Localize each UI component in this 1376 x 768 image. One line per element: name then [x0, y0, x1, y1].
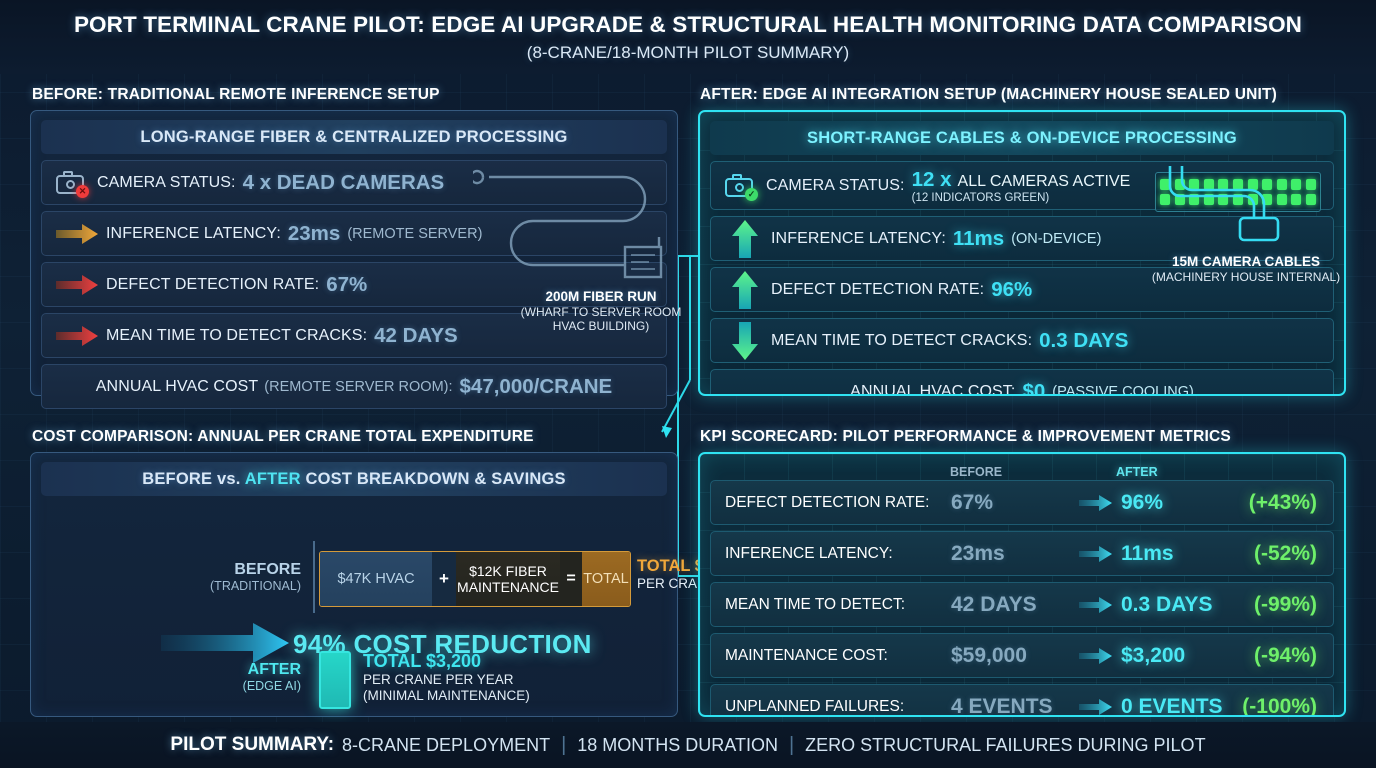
- kpi-row-after: $3,200: [1121, 644, 1185, 668]
- before-latency-label: INFERENCE LATENCY:: [106, 225, 281, 243]
- kpi-row-after: 0 EVENTS: [1121, 695, 1223, 718]
- cost-segment-total: TOTAL: [582, 552, 630, 606]
- status-led-icon: [1160, 179, 1170, 190]
- footer-value-1: 8-CRANE DEPLOYMENT: [342, 735, 550, 756]
- arrow-right-cyan-icon: [1079, 544, 1113, 564]
- after-panel-band: SHORT-RANGE CABLES & ON-DEVICE PROCESSIN…: [710, 121, 1334, 155]
- check-badge-icon: ✓: [745, 188, 758, 201]
- page-title: PORT TERMINAL CRANE PILOT: EDGE AI UPGRA…: [74, 12, 1302, 38]
- page-header: PORT TERMINAL CRANE PILOT: EDGE AI UPGRA…: [0, 0, 1376, 74]
- after-camera-label: CAMERA STATUS:: [766, 177, 905, 195]
- status-led-icon: [1248, 179, 1258, 190]
- kpi-col-header-after: AFTER: [1116, 465, 1158, 479]
- before-mttd-value: 42 DAYS: [374, 324, 458, 348]
- cost-before-label-sub: (TRADITIONAL): [101, 579, 301, 593]
- fiber-caption-line1: 200M FIBER RUN: [501, 289, 701, 305]
- cost-panel: BEFORE vs. AFTER COST BREAKDOWN & SAVING…: [30, 452, 678, 717]
- after-band-label: SHORT-RANGE CABLES & ON-DEVICE PROCESSIN…: [807, 129, 1237, 148]
- before-row-camera-status: ✕ CAMERA STATUS: 4 x DEAD CAMERAS: [41, 160, 667, 205]
- status-led-icon: [1160, 194, 1170, 205]
- after-hvac-label: ANNUAL HVAC COST:: [850, 383, 1015, 397]
- before-row-hvac-cost: ANNUAL HVAC COST (REMOTE SERVER ROOM): $…: [41, 364, 667, 409]
- page-subtitle: (8-CRANE/18-MONTH PILOT SUMMARY): [527, 43, 849, 63]
- footer-separator: |: [561, 734, 566, 757]
- after-camera-value-tail: ALL CAMERAS ACTIVE: [958, 173, 1131, 191]
- before-defect-label: DEFECT DETECTION RATE:: [106, 276, 319, 294]
- before-camera-value: 4 x DEAD CAMERAS: [243, 171, 445, 195]
- after-row-hvac-cost: ANNUAL HVAC COST: $0 (PASSIVE COOLING): [710, 369, 1334, 396]
- page-footer: PILOT SUMMARY: 8-CRANE DEPLOYMENT | 18 M…: [0, 722, 1376, 768]
- kpi-row-before: 42 DAYS: [951, 593, 1037, 617]
- status-led-icon: [1291, 194, 1301, 205]
- kpi-row-label: INFERENCE LATENCY:: [725, 545, 893, 563]
- cost-segment-hvac: $47K HVAC: [320, 552, 432, 606]
- arrow-right-red-icon: [54, 272, 100, 298]
- footer-separator: |: [789, 734, 794, 757]
- status-led-icon: [1291, 179, 1301, 190]
- status-led-icon: [1218, 194, 1228, 205]
- kpi-row-after: 96%: [1121, 491, 1163, 515]
- kpi-row-delta: (-99%): [1254, 593, 1317, 617]
- arrow-down-green-icon: [729, 319, 761, 363]
- before-hvac-label: ANNUAL HVAC COST: [96, 378, 259, 396]
- cost-before-label-main: BEFORE: [101, 561, 301, 579]
- cost-after-label-main: AFTER: [91, 661, 301, 679]
- cost-segment-equals: =: [560, 552, 582, 606]
- status-led-icon: [1233, 194, 1243, 205]
- after-row-mean-time-detect: MEAN TIME TO DETECT CRACKS: 0.3 DAYS: [710, 318, 1334, 363]
- before-defect-value: 67%: [326, 273, 367, 297]
- camera-dead-icon: ✕: [54, 170, 88, 196]
- kpi-row-delta: (-94%): [1254, 644, 1317, 668]
- footer-key: PILOT SUMMARY:: [170, 734, 334, 756]
- before-row-inference-latency: INFERENCE LATENCY: 23ms (REMOTE SERVER): [41, 211, 667, 256]
- cost-fiber-line2: MAINTENANCE: [457, 579, 559, 595]
- arrow-right-red-icon: [54, 323, 100, 349]
- cost-axis-line: [313, 541, 315, 613]
- kpi-row-label: MEAN TIME TO DETECT:: [725, 596, 905, 614]
- after-camera-value: 12 x: [912, 168, 952, 192]
- arrow-right-cyan-icon: [1079, 595, 1113, 615]
- kpi-row-delta: (+43%): [1249, 491, 1317, 515]
- arrow-right-cyan-icon: [1079, 697, 1113, 717]
- kpi-section-title: KPI SCORECARD: PILOT PERFORMANCE & IMPRO…: [700, 428, 1231, 446]
- cost-after-total-sub: PER CRANE PER YEAR: [363, 672, 643, 688]
- before-panel-band: LONG-RANGE FIBER & CENTRALIZED PROCESSIN…: [41, 120, 667, 154]
- kpi-panel: BEFORE AFTER DEFECT DETECTION RATE:67%96…: [698, 452, 1346, 717]
- cost-panel-band: BEFORE vs. AFTER COST BREAKDOWN & SAVING…: [41, 462, 667, 496]
- after-mttd-value: 0.3 DAYS: [1039, 329, 1128, 353]
- after-hvac-note: (PASSIVE COOLING): [1052, 384, 1194, 397]
- kpi-row-before: 4 EVENTS: [951, 695, 1053, 718]
- kpi-row: MEAN TIME TO DETECT:42 DAYS0.3 DAYS(-99%…: [710, 582, 1334, 627]
- camera-indicator-leds: [1155, 172, 1321, 212]
- before-panel: LONG-RANGE FIBER & CENTRALIZED PROCESSIN…: [30, 110, 678, 396]
- status-led-icon: [1277, 194, 1287, 205]
- cost-after-total: TOTAL $3,200 PER CRANE PER YEAR (MINIMAL…: [363, 651, 643, 704]
- cost-reduction-arrow-icon: [161, 620, 291, 666]
- cost-band-prefix: BEFORE vs.: [142, 470, 240, 488]
- kpi-row: UNPLANNED FAILURES:4 EVENTS0 EVENTS(-100…: [710, 684, 1334, 717]
- arrow-up-green-icon: [729, 268, 761, 312]
- fiber-caption-line3: HVAC BUILDING): [501, 319, 701, 333]
- status-led-icon: [1175, 179, 1185, 190]
- fiber-run-caption: 200M FIBER RUN (WHARF TO SERVER ROOM HVA…: [501, 289, 701, 333]
- status-led-icon: [1204, 194, 1214, 205]
- before-section-title: BEFORE: TRADITIONAL REMOTE INFERENCE SET…: [32, 86, 440, 104]
- kpi-row: MAINTENANCE COST:$59,000$3,200(-94%): [710, 633, 1334, 678]
- kpi-row-after: 0.3 DAYS: [1121, 593, 1212, 617]
- status-led-icon: [1175, 194, 1185, 205]
- status-led-icon: [1262, 179, 1272, 190]
- after-defect-value: 96%: [991, 278, 1032, 302]
- kpi-row-delta: (-52%): [1254, 542, 1317, 566]
- after-defect-label: DEFECT DETECTION RATE:: [771, 281, 984, 299]
- before-mttd-label: MEAN TIME TO DETECT CRACKS:: [106, 327, 367, 345]
- cost-before-label: BEFORE (TRADITIONAL): [101, 561, 301, 594]
- status-led-icon: [1248, 194, 1258, 205]
- after-hvac-value: $0: [1022, 380, 1045, 397]
- cost-after-total-main: TOTAL $3,200: [363, 651, 643, 672]
- kpi-row: DEFECT DETECTION RATE:67%96%(+43%): [710, 480, 1334, 525]
- kpi-row: INFERENCE LATENCY:23ms11ms(-52%): [710, 531, 1334, 576]
- after-latency-note: (ON-DEVICE): [1011, 231, 1101, 247]
- before-hvac-note: (REMOTE SERVER ROOM):: [264, 379, 452, 395]
- arrow-right-amber-icon: [54, 221, 100, 247]
- kpi-row-label: MAINTENANCE COST:: [725, 647, 888, 665]
- after-latency-label: INFERENCE LATENCY:: [771, 230, 946, 248]
- cost-band-accent: AFTER: [245, 470, 301, 488]
- cost-after-total-note: (MINIMAL MAINTENANCE): [363, 688, 643, 704]
- after-latency-value: 11ms: [953, 227, 1004, 251]
- kpi-row-delta: (-100%): [1242, 695, 1317, 718]
- cost-after-label-sub: (EDGE AI): [91, 679, 301, 693]
- before-latency-note: (REMOTE SERVER): [347, 226, 482, 242]
- infographic-canvas: PORT TERMINAL CRANE PILOT: EDGE AI UPGRA…: [0, 0, 1376, 768]
- kpi-col-header-before: BEFORE: [950, 465, 1002, 479]
- kpi-row-before: 67%: [951, 491, 993, 515]
- kpi-row-before: $59,000: [951, 644, 1027, 668]
- after-camera-sub: (12 INDICATORS GREEN): [912, 192, 1131, 204]
- camera-active-icon: ✓: [723, 173, 757, 199]
- status-led-icon: [1262, 194, 1272, 205]
- cost-segment-fiber: $12K FIBER MAINTENANCE: [456, 552, 560, 606]
- kpi-row-label: UNPLANNED FAILURES:: [725, 698, 904, 716]
- arrow-right-cyan-icon: [1079, 493, 1113, 513]
- kpi-rows-container: DEFECT DETECTION RATE:67%96%(+43%)INFERE…: [700, 480, 1344, 717]
- cost-section-title: COST COMPARISON: ANNUAL PER CRANE TOTAL …: [32, 428, 534, 446]
- cost-band-suffix: COST BREAKDOWN & SAVINGS: [306, 470, 566, 488]
- arrow-right-cyan-icon: [1079, 646, 1113, 666]
- camera-cable-caption: 15M CAMERA CABLES (MACHINERY HOUSE INTER…: [1148, 254, 1344, 284]
- status-led-icon: [1277, 179, 1287, 190]
- footer-value-2: 18 MONTHS DURATION: [577, 735, 778, 756]
- status-led-icon: [1189, 194, 1199, 205]
- arrow-up-green-icon: [729, 217, 761, 261]
- status-led-icon: [1306, 179, 1316, 190]
- cost-segment-plus: +: [432, 552, 456, 606]
- fiber-caption-line2: (WHARF TO SERVER ROOM: [501, 305, 701, 319]
- status-led-icon: [1233, 179, 1243, 190]
- footer-value-3: ZERO STRUCTURAL FAILURES DURING PILOT: [805, 735, 1205, 756]
- before-band-label: LONG-RANGE FIBER & CENTRALIZED PROCESSIN…: [140, 128, 567, 147]
- after-mttd-label: MEAN TIME TO DETECT CRACKS:: [771, 332, 1032, 350]
- led-row: [1160, 179, 1316, 190]
- cost-after-bar: [319, 651, 351, 709]
- cost-breakdown-bar: $47K HVAC + $12K FIBER MAINTENANCE = TOT…: [319, 551, 631, 607]
- led-row: [1160, 194, 1316, 205]
- kpi-row-after: 11ms: [1121, 542, 1174, 566]
- after-panel: SHORT-RANGE CABLES & ON-DEVICE PROCESSIN…: [698, 110, 1346, 396]
- cost-after-label: AFTER (EDGE AI): [91, 661, 301, 694]
- before-latency-value: 23ms: [288, 222, 340, 246]
- cost-fiber-line1: $12K FIBER: [469, 563, 547, 579]
- status-led-icon: [1189, 179, 1199, 190]
- before-hvac-value: $47,000/CRANE: [460, 375, 613, 399]
- x-badge-icon: ✕: [76, 185, 89, 198]
- status-led-icon: [1204, 179, 1214, 190]
- status-led-icon: [1306, 194, 1316, 205]
- kpi-row-before: 23ms: [951, 542, 1005, 566]
- after-row-camera-status: ✓ CAMERA STATUS: 12 x ALL CAMERAS ACTIVE…: [710, 161, 1334, 210]
- after-section-title: AFTER: EDGE AI INTEGRATION SETUP (MACHIN…: [700, 86, 1277, 104]
- kpi-row-label: DEFECT DETECTION RATE:: [725, 494, 929, 512]
- before-camera-label: CAMERA STATUS:: [97, 174, 236, 192]
- cable-caption-line1: 15M CAMERA CABLES: [1148, 254, 1344, 270]
- cable-caption-line2: (MACHINERY HOUSE INTERNAL): [1148, 270, 1344, 284]
- status-led-icon: [1218, 179, 1228, 190]
